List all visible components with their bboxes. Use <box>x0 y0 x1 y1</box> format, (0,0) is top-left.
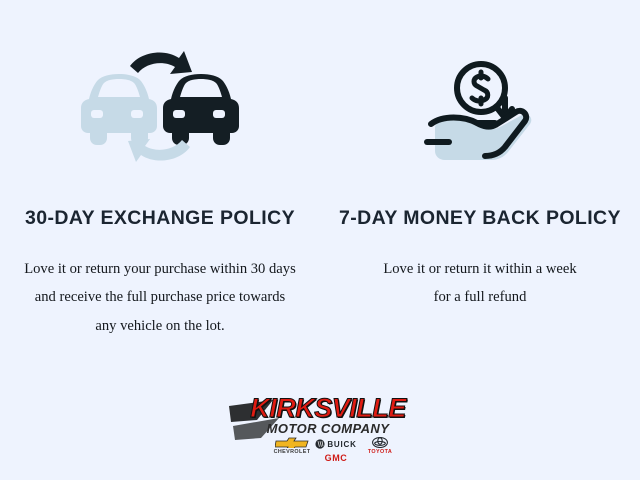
chevrolet-label: CHEVROLET <box>274 450 311 455</box>
policy-body-line: and receive the full purchase price towa… <box>35 289 285 305</box>
policy-body-line: Love it or return your purchase within 3… <box>24 261 296 277</box>
policy-column-exchange: 30-DAY EXCHANGE POLICY Love it or return… <box>0 42 320 340</box>
car-exchange-icon <box>75 42 245 170</box>
logo-wordmark: KIRKSVILLE MOTOR COMPANY <box>243 395 413 436</box>
policy-column-money-back: 7-DAY MONEY BACK POLICY Love it or retur… <box>320 42 640 340</box>
brand-toyota: TOYOTA <box>359 436 401 455</box>
dealer-logo-area: KIRKSVILLE MOTOR COMPANY CHEVROLET <box>0 394 640 468</box>
chevrolet-bowtie-icon <box>275 436 309 449</box>
brand-buick-gmc: BUICK GMC <box>315 436 357 463</box>
buick-shield-icon <box>315 436 325 454</box>
gmc-label: GMC <box>325 454 348 463</box>
policy-columns: 30-DAY EXCHANGE POLICY Love it or return… <box>0 0 640 340</box>
brand-badges: CHEVROLET BUICK GMC <box>271 436 401 463</box>
brand-chevrolet: CHEVROLET <box>271 436 313 455</box>
toyota-ellipses-icon <box>372 436 388 449</box>
policy-body-line: Love it or return it within a week <box>383 261 576 277</box>
policy-body-line: for a full refund <box>434 289 527 305</box>
policy-body-money-back: Love it or return it within a week for a… <box>369 255 590 312</box>
policy-body-line: any vehicle on the lot. <box>95 318 224 334</box>
money-back-hand-icon <box>415 42 545 170</box>
buick-row: BUICK <box>315 436 356 454</box>
gmc-row: GMC <box>325 454 348 463</box>
policy-heading-exchange: 30-DAY EXCHANGE POLICY <box>17 206 303 231</box>
dealer-logo: KIRKSVILLE MOTOR COMPANY CHEVROLET <box>227 394 413 468</box>
logo-name-sub: MOTOR COMPANY <box>240 423 417 436</box>
toyota-label: TOYOTA <box>368 450 392 455</box>
logo-name-main: KIRKSVILLE <box>243 395 413 422</box>
policy-banner: 30-DAY EXCHANGE POLICY Love it or return… <box>0 0 640 480</box>
policy-heading-money-back: 7-DAY MONEY BACK POLICY <box>331 206 629 231</box>
policy-body-exchange: Love it or return your purchase within 3… <box>10 255 310 340</box>
buick-label: BUICK <box>327 441 356 449</box>
